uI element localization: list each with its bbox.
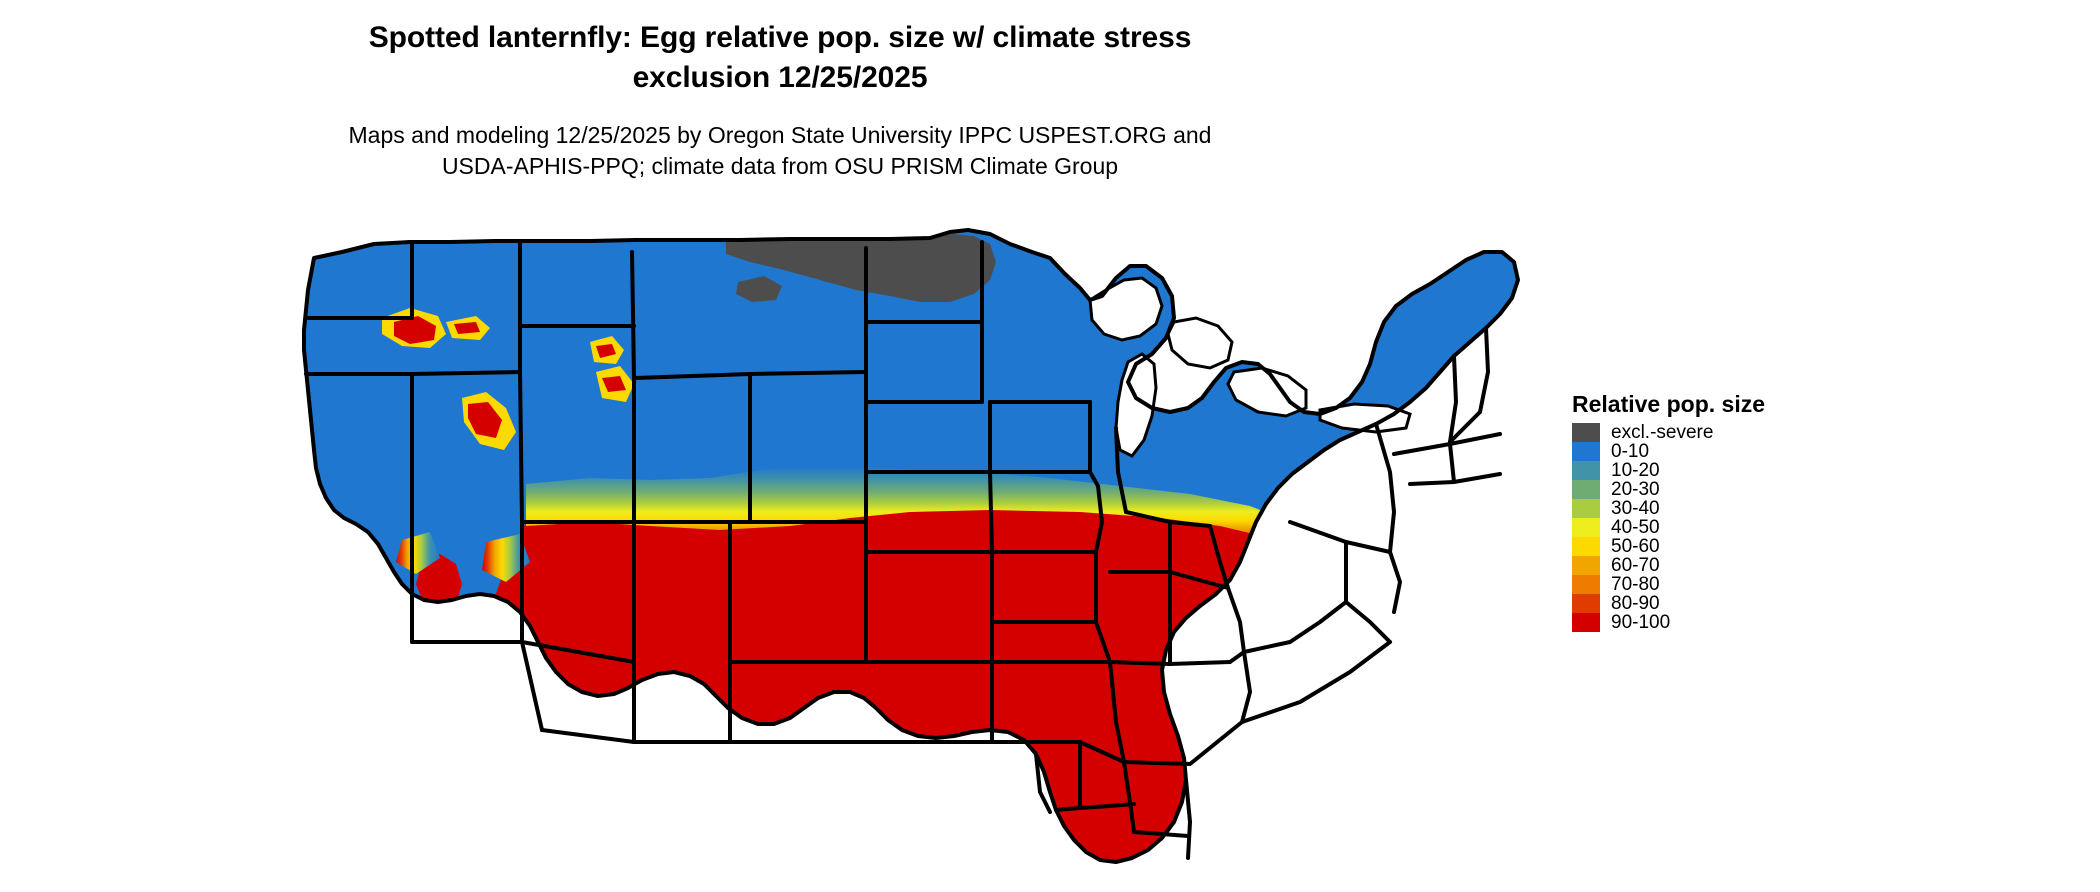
legend-swatch (1572, 575, 1600, 594)
legend-label: 10-20 (1611, 461, 1660, 480)
legend-row: 60-70 (1572, 556, 1902, 575)
legend-row: 0-10 (1572, 442, 1902, 461)
legend-row: 40-50 (1572, 518, 1902, 537)
legend-label: excl.-severe (1611, 423, 1713, 442)
legend-swatch (1572, 461, 1600, 480)
legend-row: 70-80 (1572, 575, 1902, 594)
legend-swatch (1572, 613, 1600, 632)
legend-label: 60-70 (1611, 556, 1660, 575)
legend-label: 0-10 (1611, 442, 1649, 461)
legend-row: 90-100 (1572, 613, 1902, 632)
legend-label: 80-90 (1611, 594, 1660, 613)
legend-swatch (1572, 499, 1600, 518)
legend-label: 20-30 (1611, 480, 1660, 499)
legend-swatch (1572, 537, 1600, 556)
legend-row: 10-20 (1572, 461, 1902, 480)
legend-items: excl.-severe0-1010-2020-3030-4040-5050-6… (1572, 423, 1902, 632)
us-risk-map (290, 222, 1550, 882)
legend-swatch (1572, 556, 1600, 575)
legend-label: 50-60 (1611, 537, 1660, 556)
legend-swatch (1572, 442, 1600, 461)
legend: Relative pop. size excl.-severe0-1010-20… (1572, 392, 1902, 632)
raster-class-90-100 (436, 614, 502, 678)
legend-label: 90-100 (1611, 613, 1670, 632)
raster-class-excl-severe (448, 678, 542, 752)
subtitle-credits: Maps and modeling 12/25/2025 by Oregon S… (0, 120, 1560, 183)
legend-label: 70-80 (1611, 575, 1660, 594)
legend-row: 50-60 (1572, 537, 1902, 556)
legend-row: excl.-severe (1572, 423, 1902, 442)
legend-row: 80-90 (1572, 594, 1902, 613)
title-block: Spotted lanternfly: Egg relative pop. si… (0, 18, 1560, 98)
page-title: Spotted lanternfly: Egg relative pop. si… (0, 18, 1560, 98)
legend-swatch (1572, 594, 1600, 613)
legend-swatch (1572, 480, 1600, 499)
legend-title: Relative pop. size (1572, 392, 1902, 417)
legend-swatch (1572, 423, 1600, 442)
legend-swatch (1572, 518, 1600, 537)
legend-row: 30-40 (1572, 499, 1902, 518)
legend-row: 20-30 (1572, 480, 1902, 499)
map-svg (290, 222, 1550, 882)
legend-label: 30-40 (1611, 499, 1660, 518)
map-figure-page: Spotted lanternfly: Egg relative pop. si… (0, 0, 2100, 892)
legend-label: 40-50 (1611, 518, 1660, 537)
